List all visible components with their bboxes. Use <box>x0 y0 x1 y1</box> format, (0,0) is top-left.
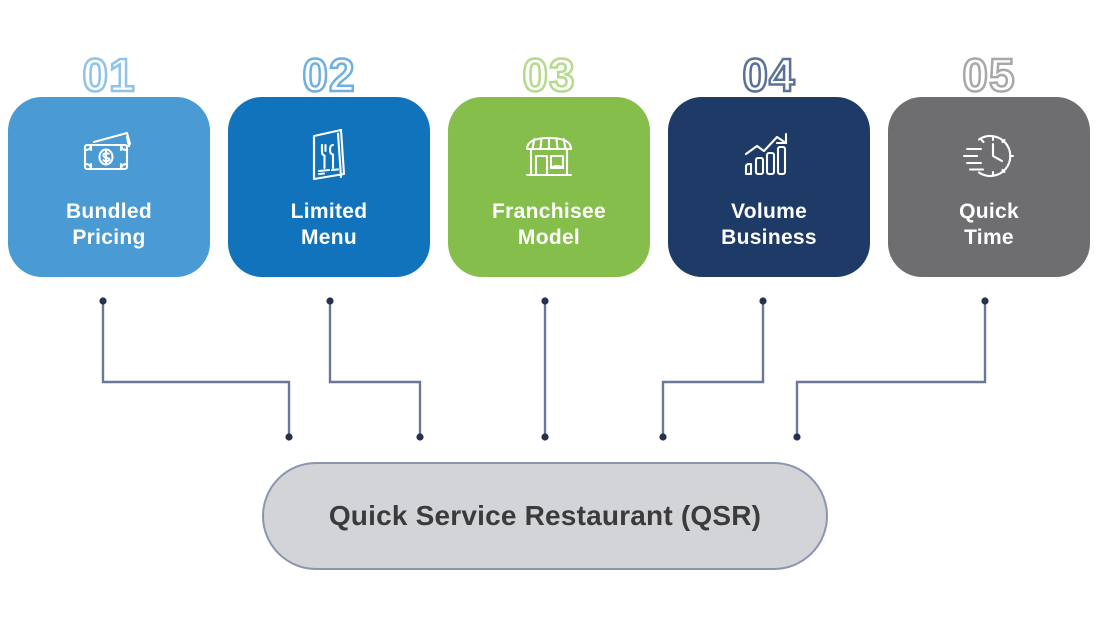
connector-dot-02-start <box>326 297 333 304</box>
connector-dot-03-end <box>541 433 548 440</box>
card-number-02: 02 <box>228 52 430 98</box>
menu-card-icon <box>297 123 361 187</box>
connector-dot-03-start <box>541 297 548 304</box>
result-pill-label: Quick Service Restaurant (QSR) <box>329 500 761 532</box>
card-quick-time[interactable]: 05 Quick Time <box>888 97 1090 277</box>
speed-clock-icon <box>957 123 1021 187</box>
card-label-limited-menu: Limited Menu <box>291 199 368 250</box>
card-label-volume-business: Volume Business <box>721 199 817 250</box>
connector-path-01 <box>103 301 289 437</box>
connector-path-02 <box>330 301 420 437</box>
card-label-bundled-pricing: Bundled Pricing <box>66 199 152 250</box>
card-volume-business[interactable]: 04 Volume Business <box>668 97 870 277</box>
card-number-03: 03 <box>448 52 650 98</box>
connector-dot-04-end <box>659 433 666 440</box>
card-franchisee-model[interactable]: 03 Franchisee Model <box>448 97 650 277</box>
card-bundled-pricing[interactable]: 01 Bundled Pricing <box>8 97 210 277</box>
cash-money-icon <box>77 123 141 187</box>
growth-chart-icon <box>737 123 801 187</box>
storefront-icon <box>517 123 581 187</box>
connector-dot-05-start <box>981 297 988 304</box>
card-number-04: 04 <box>668 52 870 98</box>
connector-dot-02-end <box>416 433 423 440</box>
connector-dot-01-start <box>99 297 106 304</box>
connector-dot-04-start <box>759 297 766 304</box>
connector-path-05 <box>797 301 985 437</box>
result-pill-qsr[interactable]: Quick Service Restaurant (QSR) <box>262 462 828 570</box>
connector-dot-05-end <box>793 433 800 440</box>
connector-dot-01-end <box>285 433 292 440</box>
connector-path-04 <box>663 301 763 437</box>
card-limited-menu[interactable]: 02 Limited Menu <box>228 97 430 277</box>
card-label-quick-time: Quick Time <box>959 199 1019 250</box>
card-number-01: 01 <box>8 52 210 98</box>
card-number-05: 05 <box>888 52 1090 98</box>
card-label-franchisee-model: Franchisee Model <box>492 199 606 250</box>
diagram-canvas: 01 Bundled Pricing 02 <box>0 0 1100 619</box>
